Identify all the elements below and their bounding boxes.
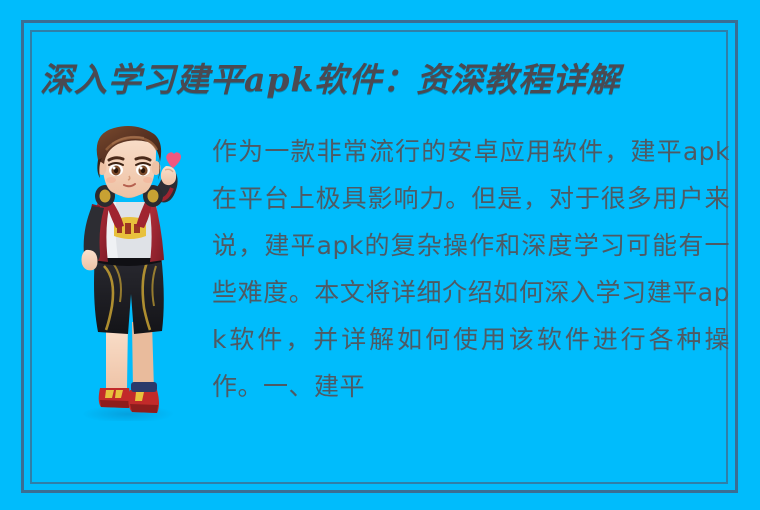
- chibi-boy-character-illustration: [62, 126, 202, 421]
- body-paragraph: 作为一款非常流行的安卓应用软件，建平apk在平台上极具影响力。但是，对于很多用户…: [212, 128, 730, 418]
- page-title: 深入学习建平apk软件：资深教程详解: [40, 56, 730, 106]
- poster-canvas: 深入学习建平apk软件：资深教程详解: [0, 0, 760, 510]
